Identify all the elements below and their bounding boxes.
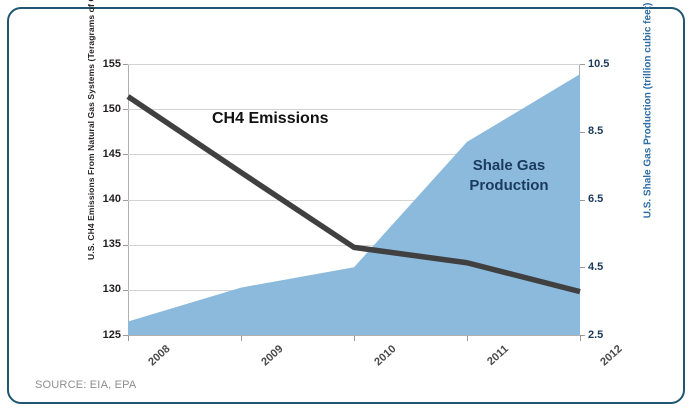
x-axis-tick-label: 2012 bbox=[598, 343, 624, 368]
x-axis-tick bbox=[354, 336, 355, 341]
shale-gas-annotation-line1: Shale Gas bbox=[449, 156, 569, 176]
right-axis-tick-label: 8.5 bbox=[588, 126, 603, 137]
x-axis-tick-label: 2009 bbox=[259, 343, 285, 368]
shale-gas-annotation: Shale Gas Production bbox=[449, 156, 569, 196]
right-axis-tick-label: 6.5 bbox=[588, 194, 603, 205]
right-axis-tick-label: 2.5 bbox=[588, 330, 603, 341]
chart-data-layer bbox=[128, 56, 580, 336]
x-axis-tick bbox=[241, 336, 242, 341]
left-axis-tick-label: 130 bbox=[103, 284, 121, 295]
left-axis-tick-label: 140 bbox=[103, 194, 121, 205]
figure-frame: U.S. CH4 Emissions From Natural Gas Syst… bbox=[7, 7, 685, 404]
x-axis-tick bbox=[580, 336, 581, 341]
left-axis-tick-label: 150 bbox=[103, 104, 121, 115]
left-axis-tick-label: 125 bbox=[103, 330, 121, 341]
right-axis-tick bbox=[580, 267, 585, 268]
plot-area bbox=[128, 56, 580, 336]
right-axis-title: U.S. Shale Gas Production (trillion cubi… bbox=[643, 0, 654, 256]
right-axis-tick bbox=[580, 132, 585, 133]
right-axis-tick-label: 10.5 bbox=[588, 59, 609, 70]
x-axis-tick bbox=[467, 336, 468, 341]
right-axis-tick-labels: 2.54.56.58.510.5 bbox=[588, 56, 628, 336]
left-axis-tick-label: 145 bbox=[103, 149, 121, 160]
source-note: SOURCE: EIA, EPA bbox=[35, 379, 136, 391]
ch4-emissions-annotation: CH4 Emissions bbox=[212, 110, 328, 128]
x-axis-tick-label: 2008 bbox=[146, 343, 172, 368]
left-axis-tick-labels: 125130135140145150155 bbox=[79, 56, 121, 336]
left-axis-tick-label: 155 bbox=[103, 59, 121, 70]
shale-gas-area bbox=[128, 74, 580, 335]
x-axis-tick bbox=[128, 336, 129, 341]
right-axis-tick-label: 4.5 bbox=[588, 262, 603, 273]
x-axis-tick-label: 2011 bbox=[485, 343, 511, 368]
left-axis-tick-label: 135 bbox=[103, 239, 121, 250]
shale-gas-annotation-line2: Production bbox=[449, 176, 569, 196]
x-axis-tick-label: 2010 bbox=[372, 343, 398, 368]
right-axis-tick bbox=[580, 200, 585, 201]
right-axis-tick bbox=[580, 64, 585, 65]
